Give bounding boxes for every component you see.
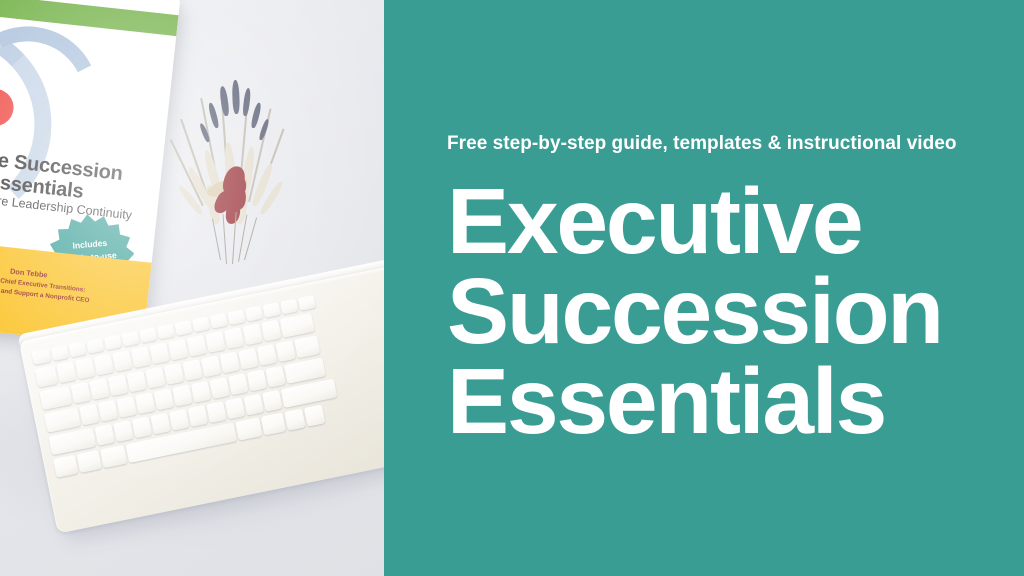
keyboard-key bbox=[206, 401, 226, 423]
keyboard-key bbox=[139, 327, 157, 343]
product-photo: cutive Succession Essentials ps to Ensur… bbox=[0, 0, 384, 576]
keyboard-key bbox=[245, 306, 263, 322]
keyboard-key bbox=[265, 366, 285, 388]
bouquet-element bbox=[212, 219, 221, 260]
headline-line-3: Essentials bbox=[447, 356, 1023, 446]
keyboard-key bbox=[132, 416, 152, 438]
keyboard-key bbox=[201, 355, 221, 377]
dried-flower-bouquet bbox=[176, 62, 294, 272]
keyboard-key bbox=[31, 349, 51, 365]
keyboard-key bbox=[89, 378, 109, 400]
keyboard-key bbox=[108, 374, 128, 396]
keyboard-key bbox=[257, 344, 277, 366]
keyboard-key bbox=[39, 386, 72, 410]
keyboard-key bbox=[280, 313, 315, 338]
keyboard-key bbox=[56, 361, 76, 383]
keyboard-key bbox=[284, 409, 305, 431]
keyboard-key bbox=[275, 340, 295, 362]
keyboard-key bbox=[154, 388, 174, 410]
keyboard-key bbox=[220, 352, 240, 374]
keyboard-key bbox=[164, 363, 184, 385]
keyboard-key bbox=[235, 417, 262, 440]
book-author-block: Don Tebbe Author of Chief Executive Tran… bbox=[0, 254, 150, 312]
keyboard-key bbox=[150, 413, 170, 435]
keyboard-key bbox=[86, 338, 104, 354]
keyboard-key bbox=[116, 396, 136, 418]
keyboard-key bbox=[100, 445, 127, 468]
keyboard-key bbox=[224, 327, 244, 349]
keyboard-key bbox=[182, 359, 202, 381]
keyboard-key bbox=[294, 335, 320, 358]
keyboard-key bbox=[225, 397, 245, 419]
bouquet-element bbox=[207, 102, 220, 129]
keyboard-key bbox=[209, 377, 229, 399]
keyboard-key bbox=[172, 385, 192, 407]
keyboard-key bbox=[131, 346, 151, 368]
keyboard-key bbox=[205, 331, 225, 353]
keyboard-key bbox=[113, 420, 133, 442]
keyboard-key bbox=[238, 348, 258, 370]
headline-line-2: Succession bbox=[447, 266, 1023, 356]
keyboard-key bbox=[261, 320, 281, 342]
keyboard-key bbox=[192, 317, 210, 333]
keyboard-key bbox=[53, 455, 78, 478]
keyboard-key bbox=[93, 354, 113, 376]
badge-line-1: Includes bbox=[72, 238, 108, 251]
keyboard-key bbox=[188, 405, 208, 427]
eyebrow-text: Free step-by-step guide, templates & ins… bbox=[447, 133, 957, 155]
keyboard-key bbox=[126, 370, 146, 392]
headline-line-1: Executive bbox=[447, 176, 1023, 266]
keyboard-key bbox=[69, 342, 87, 358]
bouquet-element bbox=[250, 102, 262, 129]
keyboard-key bbox=[44, 407, 81, 432]
bouquet-element bbox=[219, 86, 230, 117]
keyboard-key bbox=[79, 404, 99, 426]
keyboard-key bbox=[262, 390, 282, 412]
keyboard-key bbox=[71, 382, 91, 404]
page-title: ExecutiveSuccessionEssentials bbox=[447, 176, 1023, 446]
keyboard-key bbox=[98, 400, 118, 422]
keyboard-key bbox=[94, 424, 114, 446]
keyboard-key bbox=[168, 339, 188, 361]
keyboard-key bbox=[75, 358, 95, 380]
keyboard-key bbox=[149, 342, 169, 364]
bouquet-element bbox=[242, 88, 251, 117]
keyboard-key bbox=[187, 335, 207, 357]
book-cover: cutive Succession Essentials ps to Ensur… bbox=[0, 0, 180, 348]
keyboard-key bbox=[145, 367, 165, 389]
keyboard-key bbox=[263, 302, 281, 318]
keyboard-key bbox=[242, 323, 262, 345]
keyboard-key bbox=[104, 334, 122, 350]
keyboard-key bbox=[35, 365, 58, 388]
keyboard-key bbox=[298, 295, 316, 311]
keyboard-key bbox=[191, 381, 211, 403]
bouquet-element bbox=[232, 80, 240, 114]
keyboard-key bbox=[261, 413, 286, 436]
keyboard-key bbox=[174, 320, 192, 336]
keyboard-key bbox=[169, 409, 189, 431]
text-panel: Free step-by-step guide, templates & ins… bbox=[384, 0, 1024, 576]
keyboard-key bbox=[228, 373, 248, 395]
keyboard-key bbox=[210, 313, 228, 329]
keyboard-key bbox=[157, 324, 175, 340]
keyboard-key bbox=[51, 345, 69, 361]
keyboard-key bbox=[304, 405, 325, 427]
keyboard-key bbox=[121, 331, 139, 347]
keyboard-key bbox=[227, 309, 245, 325]
keyboard-key bbox=[284, 358, 326, 384]
keyboard-key bbox=[112, 350, 132, 372]
keyboard-key bbox=[77, 450, 102, 473]
keyboard-key bbox=[247, 369, 267, 391]
keyboard-key bbox=[135, 392, 155, 414]
keyboard-key bbox=[280, 299, 298, 315]
promo-banner: cutive Succession Essentials ps to Ensur… bbox=[0, 0, 1024, 576]
keyboard-key bbox=[243, 394, 263, 416]
